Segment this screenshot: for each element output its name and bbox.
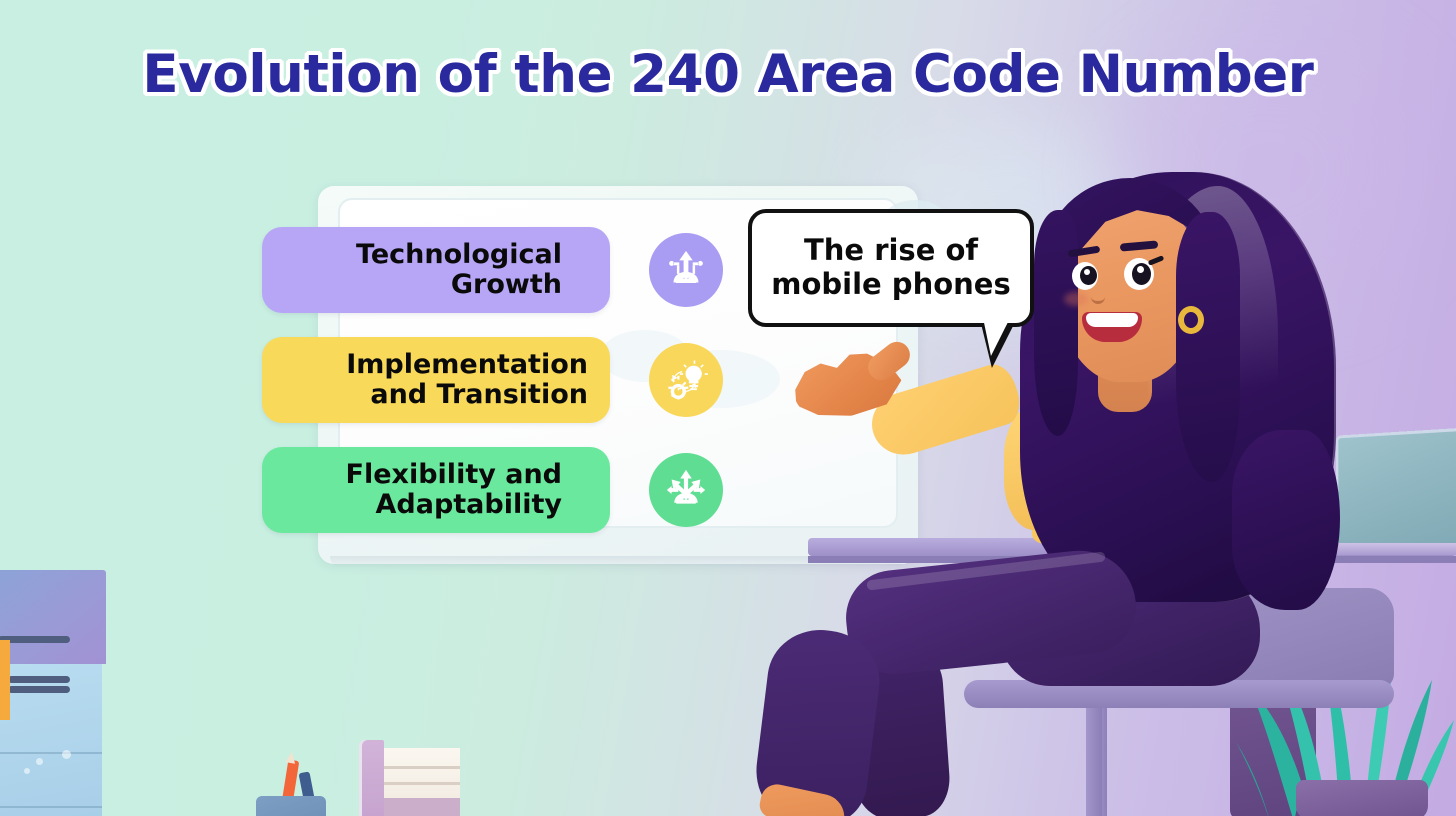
shelf-speck xyxy=(24,768,30,774)
tech-growth-icon-glyph xyxy=(663,247,709,293)
character-hair-right xyxy=(1176,212,1240,482)
book-spine-line xyxy=(8,676,70,683)
multi-arrow-gear-icon xyxy=(649,453,723,527)
lightbulb-gear-icon xyxy=(649,343,723,417)
character-eye-glint-left xyxy=(1084,269,1090,275)
page-title: Evolution of the 240 Area Code Number xyxy=(0,44,1456,105)
book-spine xyxy=(362,740,384,816)
shelf-divider xyxy=(0,752,102,754)
stool-post xyxy=(1086,706,1102,816)
book-spine-line xyxy=(8,686,70,693)
orange-book xyxy=(0,640,10,720)
tech-growth-icon xyxy=(649,233,723,307)
illustration-canvas: Evolution of the 240 Area Code Number Te… xyxy=(0,0,1456,816)
speech-bubble-text: The rise of mobile phones xyxy=(752,234,1030,301)
gold-hoop-earring xyxy=(1178,306,1204,334)
list-item-label: Implementation and Transition xyxy=(284,350,588,410)
list-item-label: Flexibility and Adaptability xyxy=(284,460,562,520)
speech-bubble: The rise of mobile phones xyxy=(748,209,1034,327)
orange-pen-tip xyxy=(285,751,297,763)
character-cheek-blush xyxy=(1064,292,1088,306)
multi-arrow-gear-icon-glyph xyxy=(663,467,709,513)
book-spine-line xyxy=(0,636,70,643)
list-item-implementation-and-transition[interactable]: Implementation and Transition xyxy=(262,337,610,423)
pencil-cup xyxy=(256,796,326,816)
book-page-line xyxy=(384,782,460,785)
lightbulb-gear-icon-glyph xyxy=(663,357,709,403)
book-page-line xyxy=(384,766,460,769)
book-lower-cover xyxy=(384,798,460,816)
plant-pot xyxy=(1296,780,1428,816)
shelf-divider xyxy=(0,806,102,808)
page-title-text: Evolution of the 240 Area Code Number xyxy=(142,44,1313,105)
list-item-flexibility-and-adaptability[interactable]: Flexibility and Adaptability xyxy=(262,447,610,533)
character-teeth xyxy=(1086,313,1138,327)
list-item-technological-growth[interactable]: Technological Growth xyxy=(262,227,610,313)
shelf-speck xyxy=(36,758,43,765)
character-eye-glint-right xyxy=(1137,266,1144,273)
character-hair-left xyxy=(1034,210,1078,436)
shelf-speck xyxy=(62,750,71,759)
bookshelf-upper-panel xyxy=(0,570,106,664)
list-item-label: Technological Growth xyxy=(284,240,562,300)
laptop-screen xyxy=(1336,428,1456,554)
